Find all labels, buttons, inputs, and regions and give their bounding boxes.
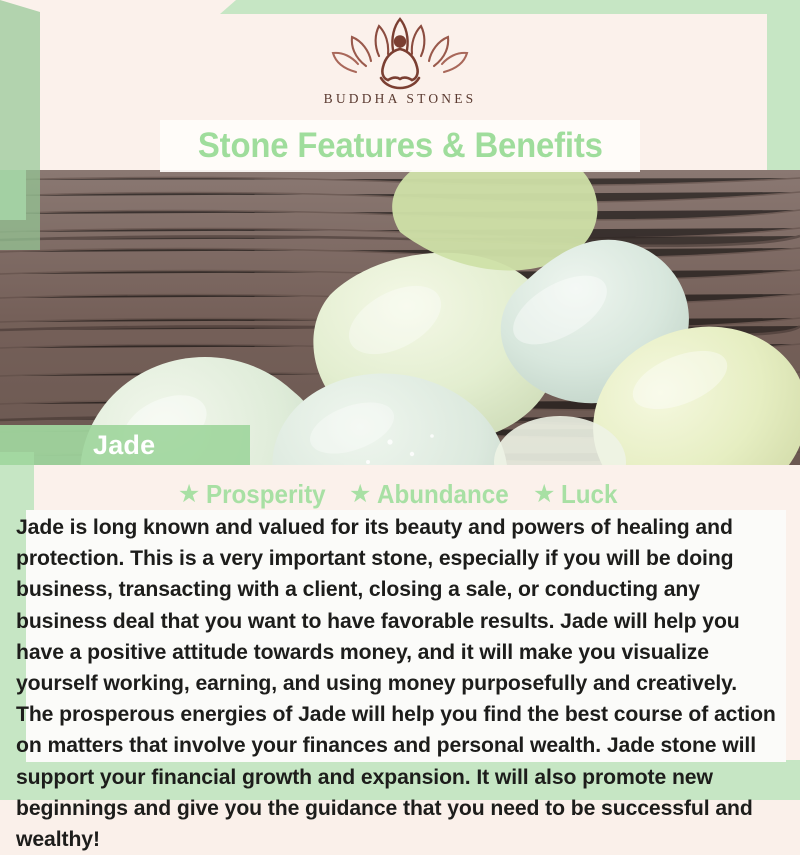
benefits-row: ★ Prosperity ★ Abundance ★ Luck <box>0 478 800 510</box>
description-text: Jade is long known and valued for its be… <box>16 512 779 855</box>
decor-left-strip <box>0 0 40 250</box>
title-banner: Stone Features & Benefits <box>160 120 640 172</box>
stone-photo-illustration <box>0 170 800 465</box>
brand-name: BUDDHA STONES <box>324 91 477 107</box>
decor-top-right-band <box>220 0 800 14</box>
benefit-item-prosperity: ★ Prosperity <box>178 479 335 510</box>
star-icon: ★ <box>533 482 555 507</box>
benefit-label: Luck <box>561 479 617 510</box>
stone-name-banner: Jade <box>0 425 250 465</box>
star-icon: ★ <box>349 482 371 507</box>
benefit-label: Prosperity <box>206 479 326 510</box>
page-title: Stone Features & Benefits <box>198 126 603 166</box>
brand-logo: BUDDHA STONES <box>0 16 800 120</box>
benefit-item-abundance: ★ Abundance <box>349 479 519 510</box>
lotus-meditation-figure-icon <box>325 16 475 90</box>
infographic-page: BUDDHA STONES Stone Features & Benefits <box>0 0 800 800</box>
benefit-item-luck: ★ Luck <box>533 479 622 510</box>
star-icon: ★ <box>178 482 200 507</box>
stone-photo <box>0 170 800 465</box>
benefit-label: Abundance <box>377 479 509 510</box>
stone-name: Jade <box>93 430 155 461</box>
